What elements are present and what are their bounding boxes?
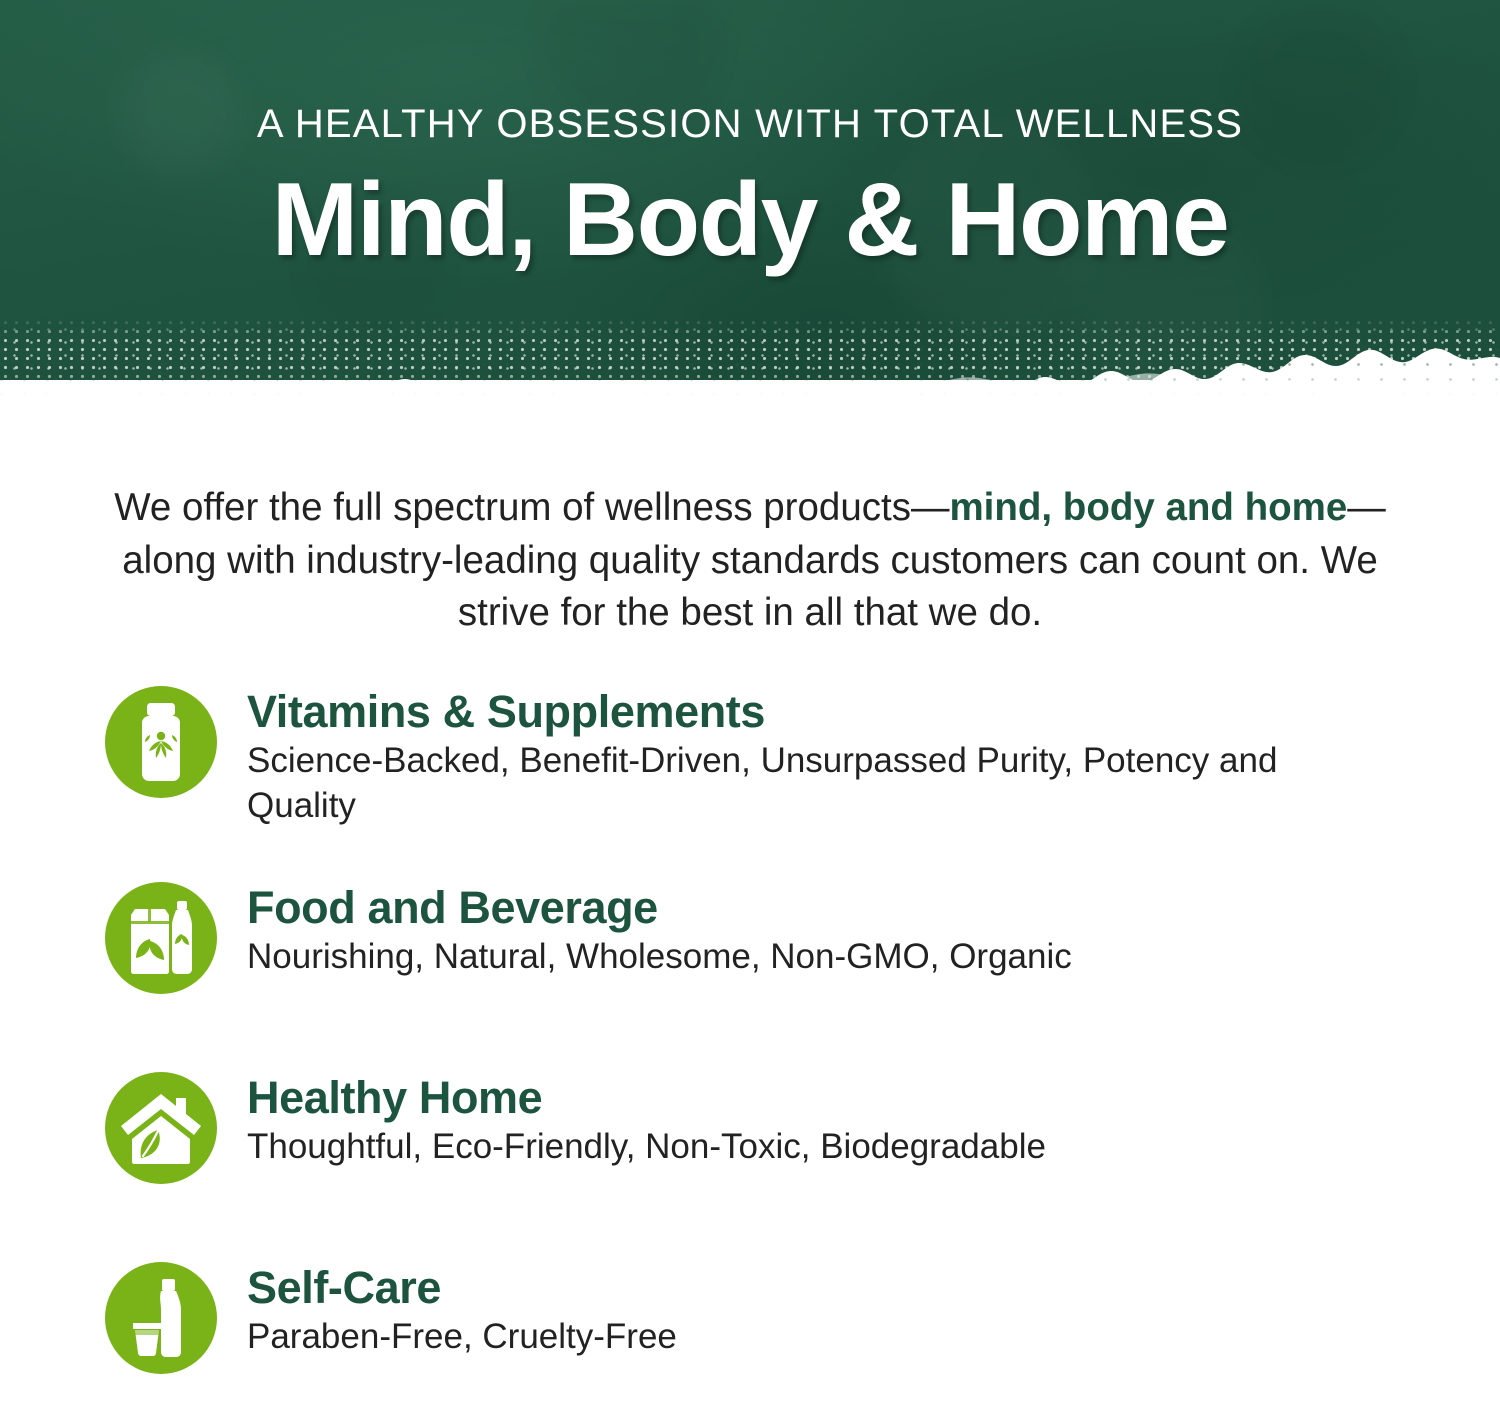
supplement-bottle-icon <box>105 686 217 798</box>
hero-text-block: A HEALTHY OBSESSION WITH TOTAL WELLNESS … <box>0 0 1500 275</box>
feature-item: Food and Beverage Nourishing, Natural, W… <box>0 882 1500 1072</box>
torn-paper-edge <box>0 300 1500 418</box>
feature-title: Self-Care <box>247 1264 1500 1311</box>
feature-title: Food and Beverage <box>247 884 1500 931</box>
feature-text-block: Self-Care Paraben-Free, Cruelty-Free <box>247 1262 1500 1360</box>
feature-item: Vitamins & Supplements Science-Backed, B… <box>0 686 1500 882</box>
feature-description: Paraben-Free, Cruelty-Free <box>247 1315 1307 1359</box>
lotion-bottle-and-soap-icon <box>105 1262 217 1374</box>
hero-headline: Mind, Body & Home <box>0 144 1500 275</box>
feature-item: Self-Care Paraben-Free, Cruelty-Free <box>0 1262 1500 1402</box>
feature-text-block: Vitamins & Supplements Science-Backed, B… <box>247 686 1500 828</box>
feature-title: Healthy Home <box>247 1074 1500 1121</box>
intro-text-part-1: We offer the full spectrum of wellness p… <box>114 486 949 529</box>
hero-banner: A HEALTHY OBSESSION WITH TOTAL WELLNESS … <box>0 0 1500 418</box>
feature-description: Thoughtful, Eco-Friendly, Non-Toxic, Bio… <box>247 1125 1307 1169</box>
intro-accent-phrase: mind, body and home <box>949 486 1347 529</box>
feature-text-block: Food and Beverage Nourishing, Natural, W… <box>247 882 1500 980</box>
house-with-leaf-icon <box>105 1072 217 1184</box>
feature-text-block: Healthy Home Thoughtful, Eco-Friendly, N… <box>247 1072 1500 1170</box>
feature-description: Nourishing, Natural, Wholesome, Non-GMO,… <box>247 935 1307 979</box>
feature-description: Science-Backed, Benefit-Driven, Unsurpas… <box>247 739 1307 828</box>
food-pouch-and-bottle-icon <box>105 882 217 994</box>
feature-list: Vitamins & Supplements Science-Backed, B… <box>0 686 1500 1402</box>
feature-title: Vitamins & Supplements <box>247 688 1500 735</box>
feature-item: Healthy Home Thoughtful, Eco-Friendly, N… <box>0 1072 1500 1262</box>
hero-eyebrow: A HEALTHY OBSESSION WITH TOTAL WELLNESS <box>0 0 1500 144</box>
intro-paragraph: We offer the full spectrum of wellness p… <box>90 482 1410 640</box>
